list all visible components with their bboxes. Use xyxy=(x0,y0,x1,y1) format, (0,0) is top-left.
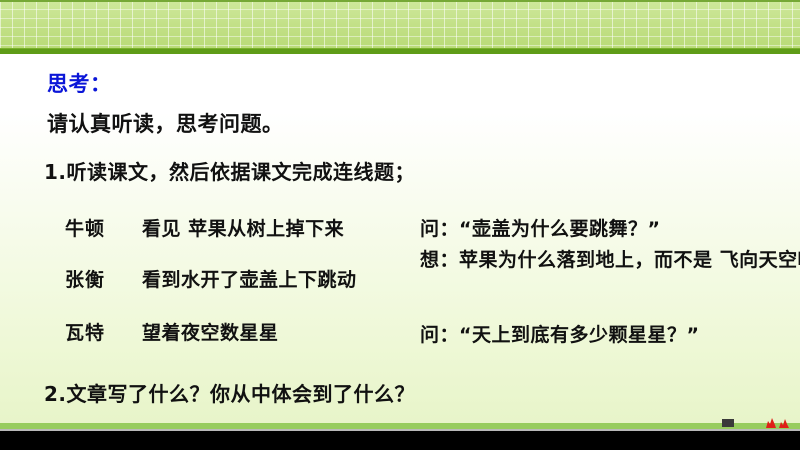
match-left-action: 看到水开了壶盖上下跳动 xyxy=(142,268,357,292)
match-right-entry: 想：苹果为什么落到地上，而不是 飞向天空呢？ xyxy=(420,248,800,273)
intro-instruction: 请认真听读，思考问题。 xyxy=(47,112,284,136)
match-left-name: 牛顿 xyxy=(65,217,105,241)
match-right-line-2: 飞向天空呢？ xyxy=(720,249,800,271)
slide-root: 思考： 请认真听读，思考问题。 1.听读课文，然后依据课文完成连线题； 牛顿 看… xyxy=(0,0,800,450)
top-band-rule xyxy=(0,48,800,54)
match-left-action: 看见 苹果从树上掉下来 xyxy=(142,217,344,241)
match-left-action: 望着夜空数星星 xyxy=(142,321,279,345)
question-2-text: 2.文章写了什么？你从中体会到了什么？ xyxy=(44,382,415,406)
top-band-hairline xyxy=(0,0,800,2)
page-title: 思考： xyxy=(47,72,112,96)
page-number-placeholder xyxy=(722,419,734,427)
match-right-line: 问：“壶盖为什么要跳舞？” xyxy=(420,218,660,240)
top-decorative-band xyxy=(0,0,800,48)
match-left-name: 张衡 xyxy=(65,268,105,292)
match-right-entry: 问：“壶盖为什么要跳舞？” xyxy=(420,217,660,242)
match-right-entry: 问：“天上到底有多少颗星星？” xyxy=(420,323,699,348)
flame-decoration-icon xyxy=(764,416,794,428)
match-left-name: 瓦特 xyxy=(65,321,105,345)
match-right-line: 问：“天上到底有多少颗星星？” xyxy=(420,324,699,346)
bottom-edge-line xyxy=(0,429,800,431)
question-1-text: 1.听读课文，然后依据课文完成连线题； xyxy=(44,160,415,184)
match-right-line: 想：苹果为什么落到地上，而不是 xyxy=(420,249,713,271)
